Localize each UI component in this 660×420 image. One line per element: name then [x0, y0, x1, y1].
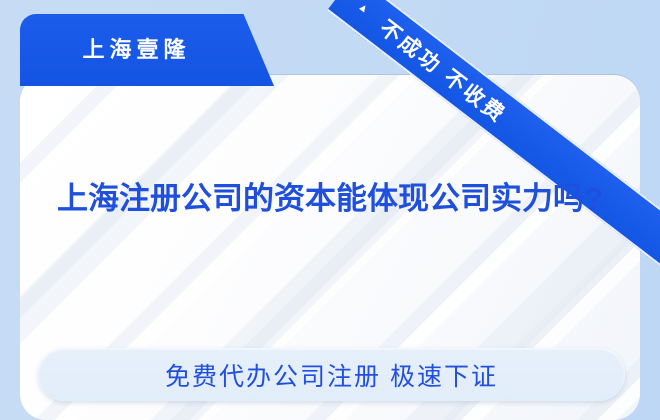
page-title: 上海注册公司的资本能体现公司实力吗? [36, 176, 624, 222]
cta-banner[interactable]: 免费代办公司注册 极速下证 [38, 348, 625, 401]
cta-label: 免费代办公司注册 极速下证 [165, 357, 498, 393]
promo-poster: 上海壹隆 ▲ 不成功 不收费 上海注册公司的资本能体现公司实力吗? 免费代办公司… [0, 0, 660, 420]
brand-tab[interactable]: 上海壹隆 [20, 14, 274, 86]
triangle-up-icon: ▲ [356, 0, 371, 15]
brand-name: 上海壹隆 [77, 32, 190, 64]
